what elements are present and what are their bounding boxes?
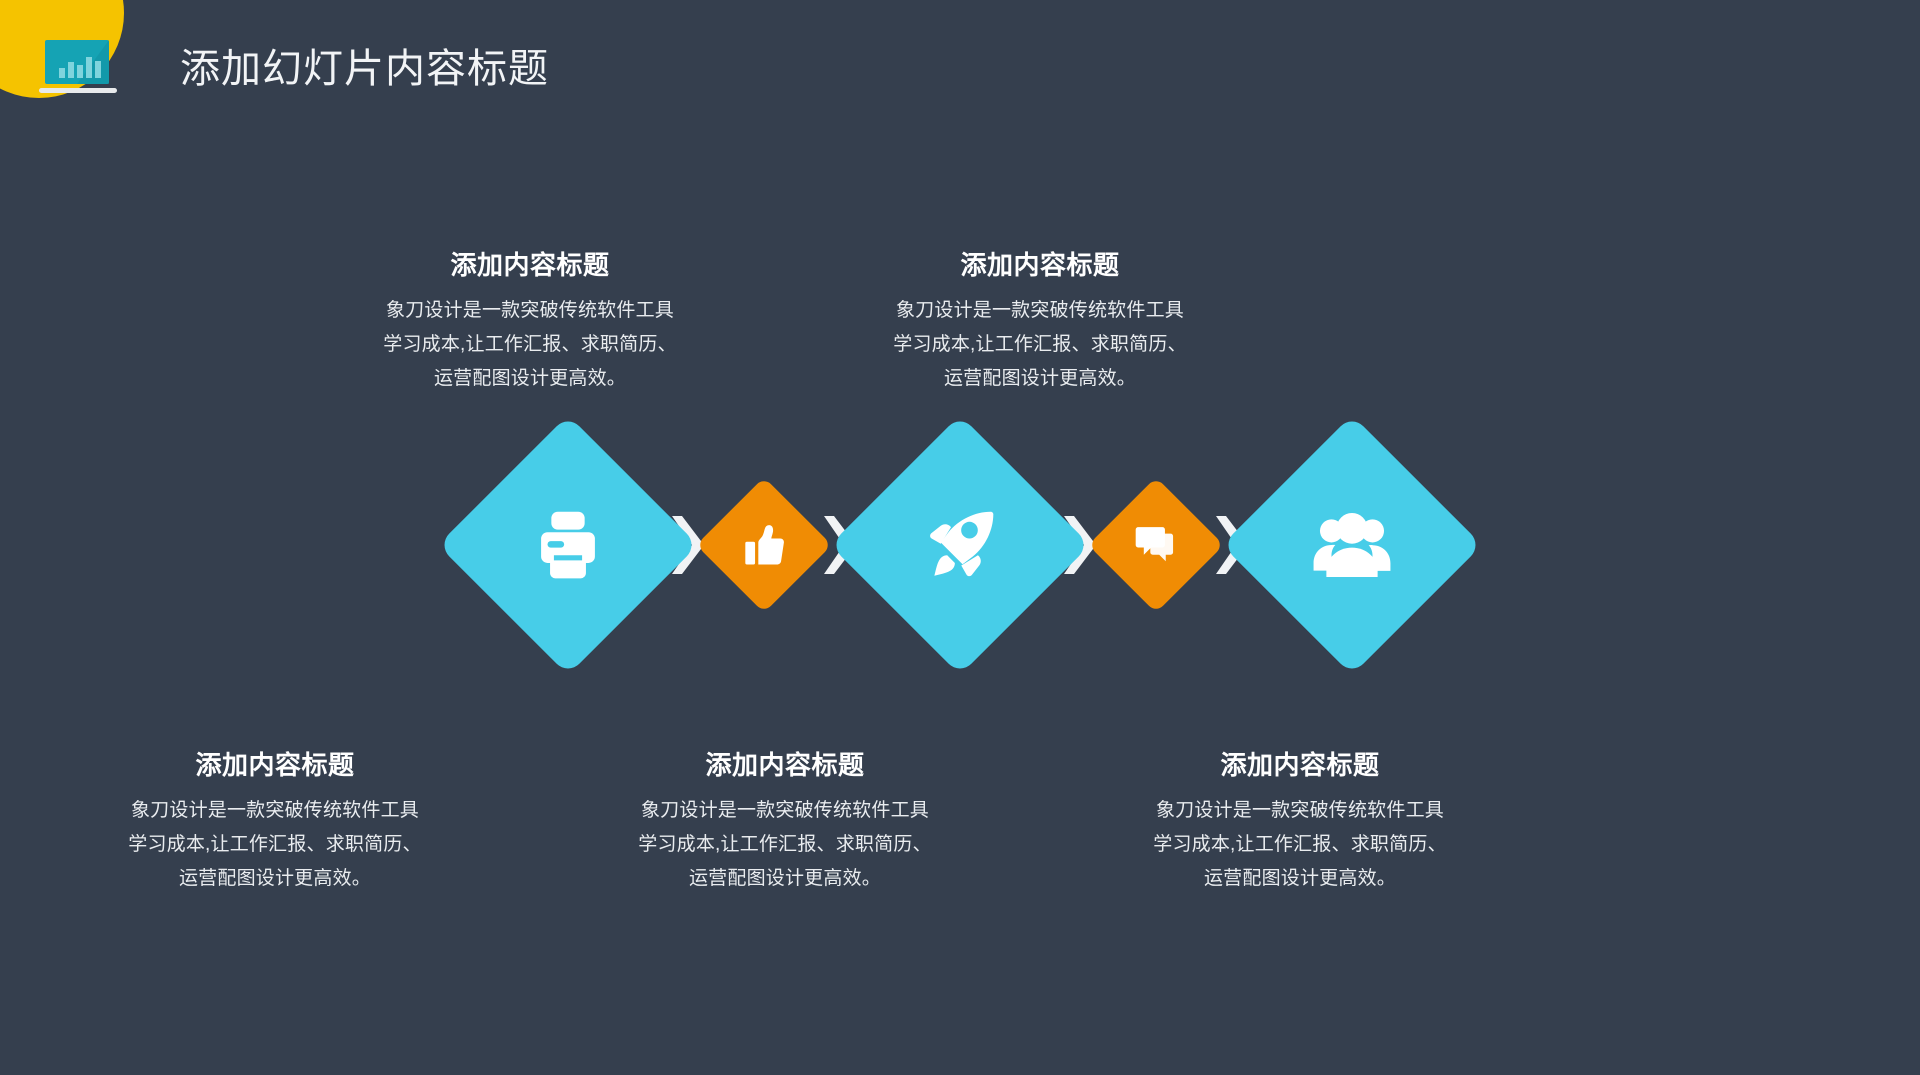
text-block-top-1: 添加内容标题 象刀设计是一款突破传统软件工具 学习成本,让工作汇报、求职简历、 … [320,248,740,396]
body-line: 学习成本,让工作汇报、求职简历、 [65,828,485,862]
rocket-icon [919,504,1001,586]
text-block-bottom-1: 添加内容标题 象刀设计是一款突破传统软件工具 学习成本,让工作汇报、求职简历、 … [65,748,485,896]
body-line: 运营配图设计更高效。 [65,862,485,896]
diamond-shape-1 [438,415,698,675]
text-block-body: 象刀设计是一款突破传统软件工具 学习成本,让工作汇报、求职简历、 运营配图设计更… [830,294,1250,396]
text-block-title: 添加内容标题 [320,248,740,282]
text-block-body: 象刀设计是一款突破传统软件工具 学习成本,让工作汇报、求职简历、 运营配图设计更… [65,794,485,896]
body-line: 运营配图设计更高效。 [1090,862,1510,896]
body-line: 运营配图设计更高效。 [575,862,995,896]
flow-node-4[interactable] [1108,497,1204,593]
diamond-shape-3 [830,415,1090,675]
body-line: 象刀设计是一款突破传统软件工具 [830,294,1250,328]
flow-node-3[interactable] [868,453,1052,637]
diamond-shape-2 [696,477,832,613]
text-block-bottom-3: 添加内容标题 象刀设计是一款突破传统软件工具 学习成本,让工作汇报、求职简历、 … [1090,748,1510,896]
laptop-bar-chart-icon [37,38,119,100]
text-block-body: 象刀设计是一款突破传统软件工具 学习成本,让工作汇报、求职简历、 运营配图设计更… [320,294,740,396]
page-title: 添加幻灯片内容标题 [180,43,549,95]
body-line: 学习成本,让工作汇报、求职简历、 [320,328,740,362]
body-line: 运营配图设计更高效。 [830,362,1250,396]
flow-node-5[interactable] [1260,453,1444,637]
users-group-icon [1311,504,1393,586]
text-block-body: 象刀设计是一款突破传统软件工具 学习成本,让工作汇报、求职简历、 运营配图设计更… [575,794,995,896]
chat-bubbles-icon [1130,519,1182,571]
body-line: 学习成本,让工作汇报、求职简历、 [1090,828,1510,862]
flow-node-1[interactable] [476,453,660,637]
flow-node-2[interactable] [716,497,812,593]
text-block-title: 添加内容标题 [65,748,485,782]
thumbs-up-icon [738,519,790,571]
body-line: 运营配图设计更高效。 [320,362,740,396]
printer-icon [527,504,609,586]
body-line: 象刀设计是一款突破传统软件工具 [1090,794,1510,828]
body-line: 学习成本,让工作汇报、求职简历、 [575,828,995,862]
diamond-shape-4 [1088,477,1224,613]
text-block-title: 添加内容标题 [830,248,1250,282]
body-line: 象刀设计是一款突破传统软件工具 [575,794,995,828]
slide-canvas: 添加幻灯片内容标题 [0,0,1920,1075]
text-block-top-2: 添加内容标题 象刀设计是一款突破传统软件工具 学习成本,让工作汇报、求职简历、 … [830,248,1250,396]
text-block-title: 添加内容标题 [1090,748,1510,782]
process-flow [0,415,1920,675]
diamond-shape-5 [1222,415,1482,675]
body-line: 学习成本,让工作汇报、求职简历、 [830,328,1250,362]
text-block-body: 象刀设计是一款突破传统软件工具 学习成本,让工作汇报、求职简历、 运营配图设计更… [1090,794,1510,896]
text-block-title: 添加内容标题 [575,748,995,782]
text-block-bottom-2: 添加内容标题 象刀设计是一款突破传统软件工具 学习成本,让工作汇报、求职简历、 … [575,748,995,896]
body-line: 象刀设计是一款突破传统软件工具 [320,294,740,328]
body-line: 象刀设计是一款突破传统软件工具 [65,794,485,828]
